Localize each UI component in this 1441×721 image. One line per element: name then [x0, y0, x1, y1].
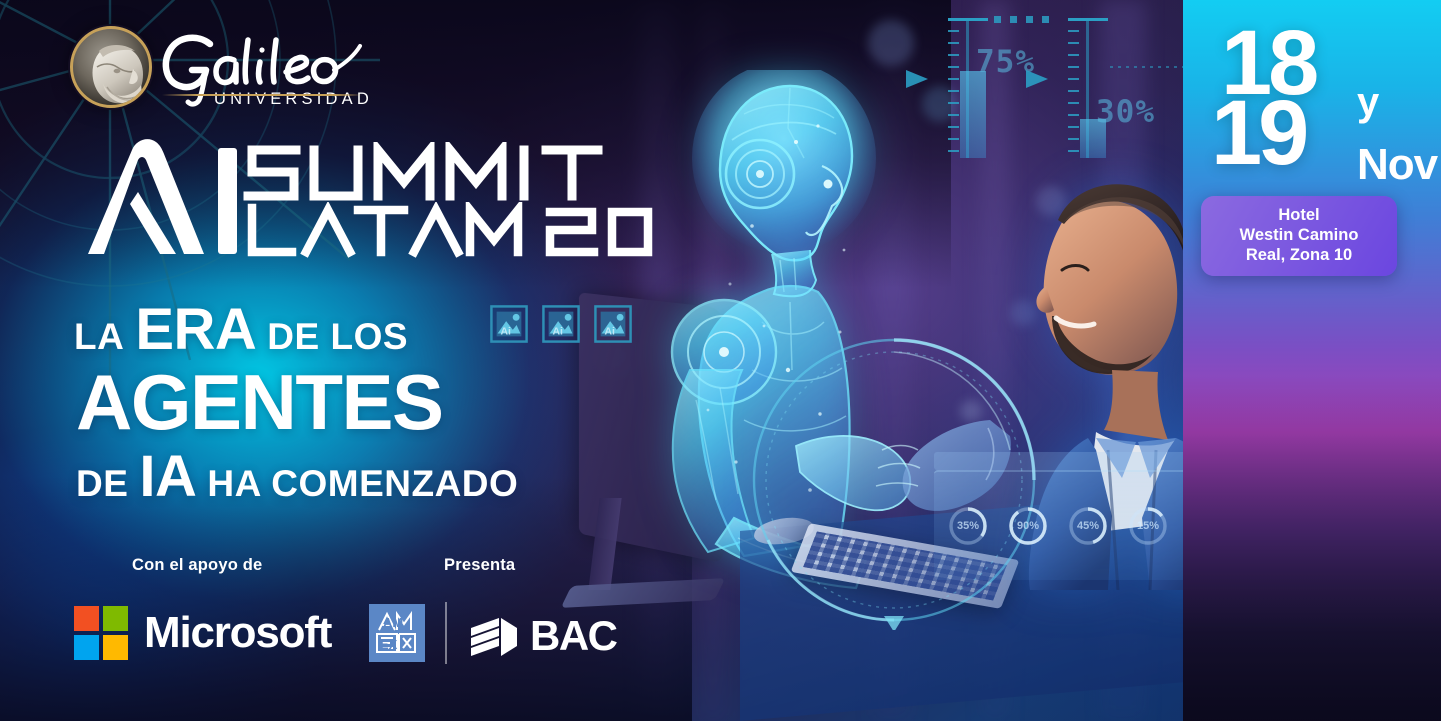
venue-badge: Hotel Westin Camino Real, Zona 10	[1201, 196, 1397, 276]
hud-donut-gauge: 35%	[946, 504, 990, 548]
bokeh-light	[868, 20, 914, 66]
tagline-ia: IA	[139, 443, 196, 510]
date-numbers: 18 y 19 Nov	[1197, 18, 1421, 198]
sponsor-logos: Microsoft AM EX	[74, 602, 634, 674]
venue-line-2: Westin Camino	[1209, 225, 1389, 245]
latam-year-text	[244, 202, 688, 260]
ms-square-yellow	[103, 635, 128, 660]
hud-panel-header	[934, 452, 1196, 470]
ms-square-blue	[74, 635, 99, 660]
event-banner: 75% 30% Ai Ai	[0, 0, 1441, 721]
support-label: Con el apoyo de	[132, 556, 262, 575]
microsoft-wordmark: Microsoft	[144, 608, 331, 658]
ms-square-green	[103, 606, 128, 631]
tagline-de-los: DE LOS	[267, 316, 408, 358]
sponsor-labels: Con el apoyo de Presenta	[74, 556, 634, 582]
logo-rule	[162, 94, 362, 96]
tagline-agentes: AGENTES	[76, 365, 443, 439]
bac-logo: BAC	[469, 612, 617, 660]
tagline-era: ERA	[135, 296, 256, 363]
galileo-wordmark: UNIVERSIDAD	[158, 30, 370, 108]
venue-line-1: Hotel	[1209, 205, 1389, 225]
date-conjunction: y	[1357, 80, 1379, 125]
tagline-ha-comenzado: HA COMENZADO	[207, 463, 518, 505]
galileo-university-logo: UNIVERSIDAD	[70, 26, 370, 112]
bac-mark-icon	[469, 614, 521, 658]
date-panel: 18 y 19 Nov Hotel Westin Camino Real, Zo…	[1183, 0, 1441, 721]
date-month: Nov	[1357, 140, 1437, 190]
bac-wordmark: BAC	[530, 612, 617, 660]
event-title	[78, 136, 638, 266]
summit-text	[238, 142, 688, 204]
microsoft-squares-icon	[74, 606, 128, 660]
microsoft-logo: Microsoft	[74, 606, 331, 660]
tagline-line-2: AGENTES	[76, 365, 634, 439]
tagline-la: LA	[74, 316, 124, 358]
latam-year-text-2	[638, 202, 1082, 260]
hud-donut-gauge: 45%	[1066, 504, 1110, 548]
hud-donut-gauge: 15%	[1126, 504, 1170, 548]
tagline-de: DE	[76, 463, 128, 505]
tagline: LA ERA DE LOS AGENTES DE IA HA COMENZADO	[74, 296, 634, 510]
gauge-arrow	[1026, 70, 1048, 88]
ai-monogram	[78, 136, 258, 254]
sponsors-section: Con el apoyo de Presenta Microsoft	[74, 556, 634, 674]
ms-square-red	[74, 606, 99, 631]
gauge-dots	[994, 16, 1052, 23]
gauge-value: 15%	[1126, 504, 1170, 548]
tagline-line-3: DE IA HA COMENZADO	[76, 443, 634, 510]
presents-label: Presenta	[444, 556, 515, 575]
tagline-line-1: LA ERA DE LOS	[74, 296, 634, 363]
amex-ex-text: EX	[380, 637, 398, 652]
date-panel-content: 18 y 19 Nov Hotel Westin Camino Real, Zo…	[1183, 0, 1441, 721]
galileo-bust-medallion	[70, 26, 152, 108]
universidad-text: UNIVERSIDAD	[214, 90, 370, 108]
gauge-value: 90%	[1006, 504, 1050, 548]
date-day-2: 19	[1211, 94, 1305, 173]
sponsor-divider	[445, 602, 447, 664]
gauge-value: 35%	[946, 504, 990, 548]
hud-donut-gauge: 90%	[1006, 504, 1050, 548]
amex-am-text: AM	[383, 615, 403, 630]
amex-logo: AM EX	[369, 604, 425, 662]
gauge-value: 45%	[1066, 504, 1110, 548]
venue-line-3: Real, Zona 10	[1209, 245, 1389, 265]
